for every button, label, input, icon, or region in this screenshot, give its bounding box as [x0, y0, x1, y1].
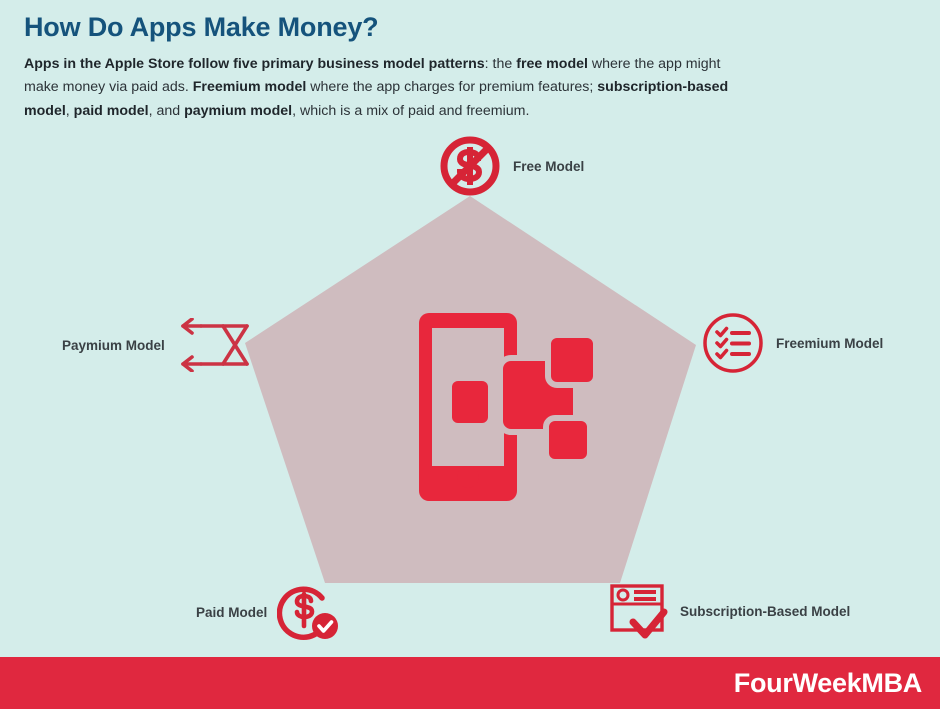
- node-subscription-based-model-label: Subscription-Based Model: [680, 604, 850, 619]
- checklist-circle-icon: [700, 310, 766, 376]
- node-freemium-model-label: Freemium Model: [776, 336, 883, 351]
- node-paid-model[interactable]: Paid Model: [196, 580, 341, 644]
- dollar-circle-check-icon: [277, 580, 341, 644]
- node-paymium-model-label: Paymium Model: [62, 338, 165, 353]
- node-free-model-label: Free Model: [513, 159, 584, 174]
- diagram-stage: Free Model Freemium Model: [0, 0, 940, 657]
- card-checkmark-icon: [608, 580, 670, 642]
- brand-logo-text: FourWeekMBA: [734, 668, 922, 699]
- node-paid-model-label: Paid Model: [196, 605, 267, 620]
- node-freemium-model[interactable]: Freemium Model: [700, 310, 883, 376]
- node-paymium-model[interactable]: Paymium Model: [62, 318, 249, 372]
- infographic-canvas: How Do Apps Make Money? Apps in the Appl…: [0, 0, 940, 709]
- node-free-model[interactable]: Free Model: [437, 133, 584, 199]
- crossing-arrows-icon: [175, 318, 249, 372]
- footer-bar: FourWeekMBA: [0, 657, 940, 709]
- node-subscription-based-model[interactable]: Subscription-Based Model: [608, 580, 850, 642]
- dollar-crossed-out-icon: [437, 133, 503, 199]
